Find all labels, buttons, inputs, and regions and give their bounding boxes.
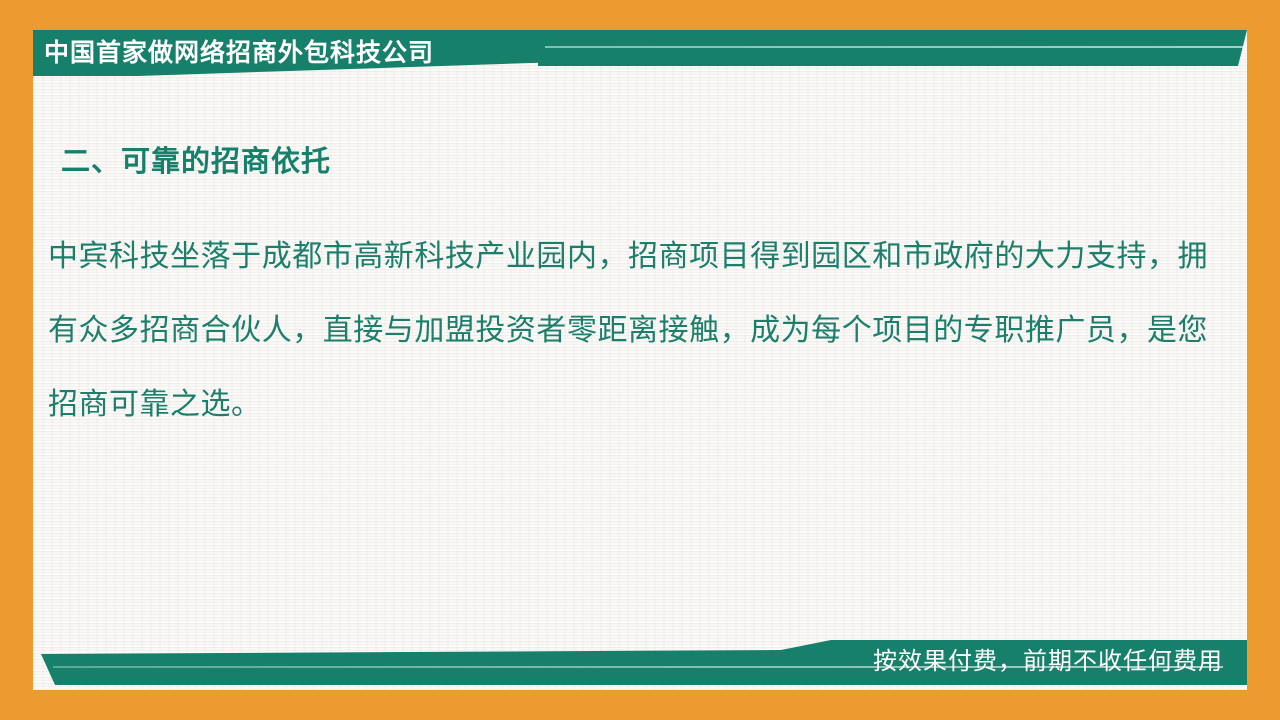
slide-content-area: 中国首家做网络招商外包科技公司 二、可靠的招商依托 中宾科技坐落于成都市高新科技… <box>33 30 1247 690</box>
section-heading: 二、可靠的招商依托 <box>61 138 331 180</box>
header-banner: 中国首家做网络招商外包科技公司 <box>33 30 1247 76</box>
slide-canvas: 中国首家做网络招商外包科技公司 二、可靠的招商依托 中宾科技坐落于成都市高新科技… <box>0 0 1280 720</box>
header-banner-right-shape <box>538 30 1247 66</box>
footer-tagline: 按效果付费，前期不收任何费用 <box>873 647 1223 677</box>
footer-banner: 按效果付费，前期不收任何费用 <box>33 640 1247 685</box>
header-title: 中国首家做网络招商外包科技公司 <box>44 39 434 67</box>
header-banner-left-shape <box>33 30 593 76</box>
header-banner-rule <box>545 46 1245 48</box>
body-paragraph: 中宾科技坐落于成都市高新科技产业园内，招商项目得到园区和市政府的大力支持，拥有众… <box>48 220 1208 442</box>
